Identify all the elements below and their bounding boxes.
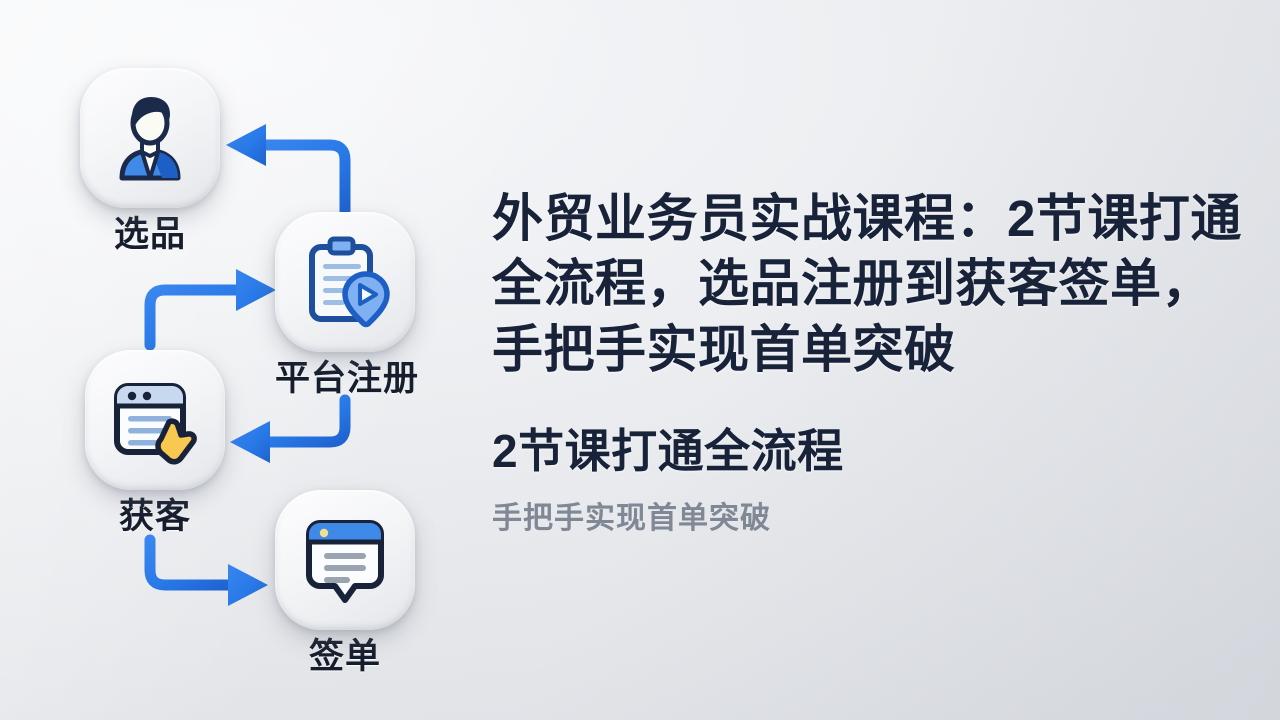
flow-node-label: 平台注册: [275, 361, 415, 398]
speech-bubble-document-icon: [297, 512, 393, 608]
clipboard-location-pin-icon: [297, 234, 393, 330]
flow-node-xuanpin[interactable]: 选品: [80, 68, 220, 254]
flow-node-qiandan[interactable]: 签单: [275, 490, 415, 676]
arrow-to-xuanpin: [226, 124, 345, 212]
flow-node-label: 签单: [275, 639, 415, 676]
arrow-to-pingtaizhuce: [150, 269, 276, 345]
arrow-to-huoke: [230, 400, 345, 463]
poster-canvas: 选品: [0, 0, 1280, 720]
flow-node-pingtaizhuce[interactable]: 平台注册: [275, 212, 415, 398]
flow-node-card: [85, 350, 225, 490]
workflow-diagram: 选品: [0, 0, 470, 720]
headline-text: 外贸业务员实战课程：2节课打通全流程，选品注册到获客签单，手把手实现首单突破: [492, 186, 1248, 382]
tagline-text: 手把手实现首单突破: [492, 501, 1248, 537]
flow-node-huoke[interactable]: 获客: [85, 350, 225, 536]
flow-node-card: [80, 68, 220, 208]
flow-node-card: [275, 490, 415, 630]
copy-block: 外贸业务员实战课程：2节课打通全流程，选品注册到获客签单，手把手实现首单突破 2…: [492, 186, 1248, 537]
subheadline-text: 2节课打通全流程: [492, 424, 1248, 479]
browser-window-cursor-icon: [107, 372, 203, 468]
businessman-icon: [102, 90, 198, 186]
flow-node-card: [275, 212, 415, 352]
flow-node-label: 获客: [85, 499, 225, 536]
flow-node-label: 选品: [80, 217, 220, 254]
arrow-to-qiandan: [150, 540, 268, 606]
